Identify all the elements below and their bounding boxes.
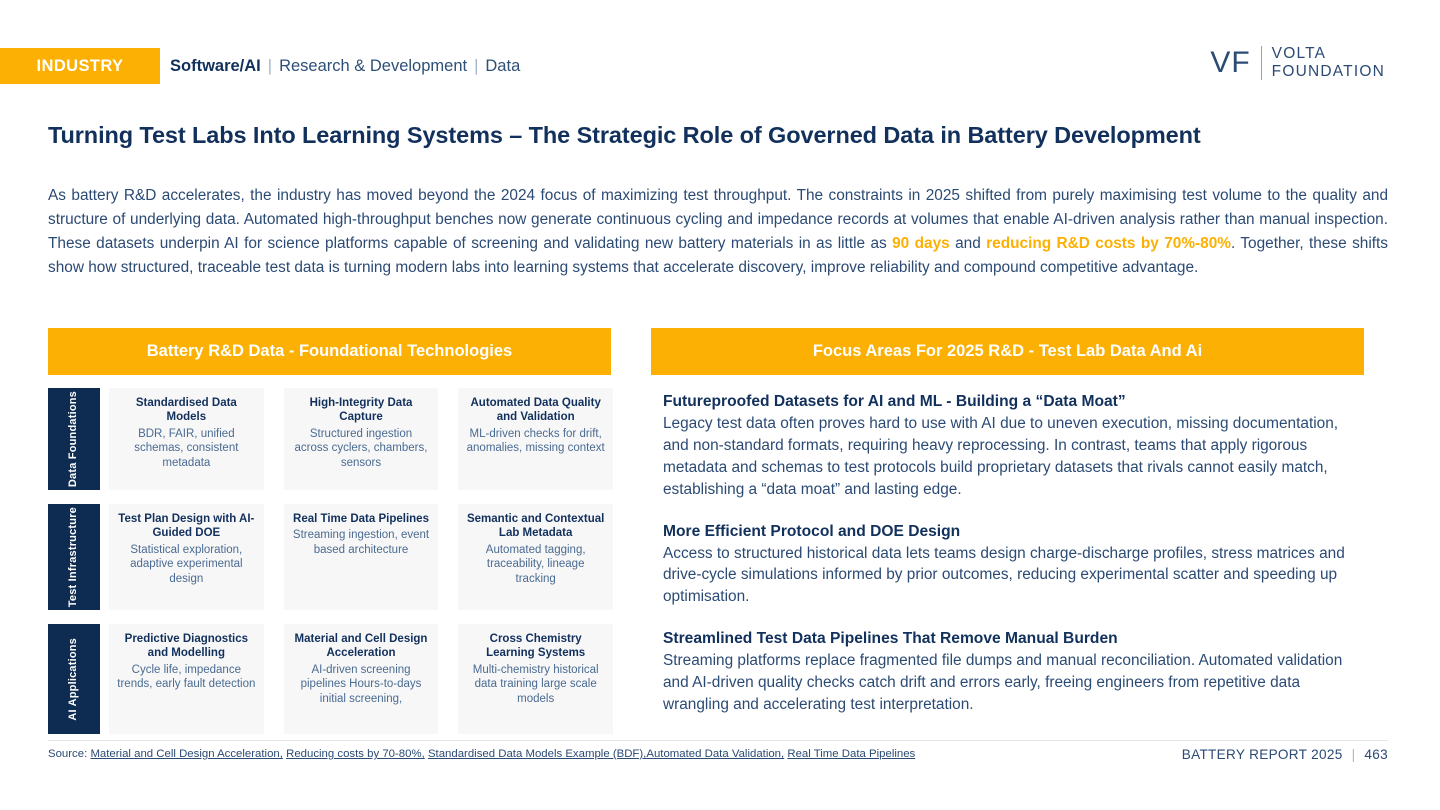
focus-block-title: More Efficient Protocol and DOE Design [663, 523, 1363, 541]
logo-wordmark-line2: FOUNDATION [1272, 63, 1385, 81]
breadcrumb-item-third: Data [485, 57, 520, 76]
footer-divider [48, 740, 1388, 741]
source-label: Source: [48, 748, 87, 760]
logo-wordmark: VOLTA FOUNDATION [1272, 45, 1385, 81]
matrix-card-title: Cross Chemistry Learning Systems [466, 632, 605, 661]
logo-monogram: VF [1210, 48, 1250, 78]
row-label-data-foundations: Data Foundations [48, 388, 100, 490]
matrix-card[interactable]: Semantic and Contextual Lab Metadata Aut… [458, 504, 613, 610]
row-label-text: Data Foundations [67, 391, 81, 487]
focus-block: Futureproofed Datasets for AI and ML - B… [663, 393, 1363, 501]
matrix-card-description: Multi-chemistry historical data training… [466, 663, 605, 707]
focus-block-title: Streamlined Test Data Pipelines That Rem… [663, 630, 1363, 648]
matrix-card-description: BDR, FAIR, unified schemas, consistent m… [117, 427, 256, 471]
matrix-card-title: Standardised Data Models [117, 396, 256, 425]
matrix-card-title: High-Integrity Data Capture [292, 396, 431, 425]
matrix-row-cards: Predictive Diagnostics and Modelling Cyc… [109, 624, 613, 734]
matrix-card[interactable]: Cross Chemistry Learning Systems Multi-c… [458, 624, 613, 734]
slide-root: INDUSTRY Software/AI | Research & Develo… [0, 0, 1440, 810]
breadcrumb-item-primary: Software/AI [170, 57, 261, 76]
intro-highlight-90-days: 90 days [892, 235, 950, 252]
row-label-test-infrastructure: Test Infrastructure [48, 504, 100, 610]
logo-wordmark-line1: VOLTA [1272, 45, 1385, 63]
breadcrumb: Software/AI | Research & Development | D… [170, 48, 520, 84]
matrix-card-description: Statistical exploration, adaptive experi… [117, 543, 256, 587]
intro-paragraph: As battery R&D accelerates, the industry… [48, 184, 1388, 280]
matrix-card[interactable]: Material and Cell Design Acceleration AI… [284, 624, 439, 734]
matrix-row: AI Applications Predictive Diagnostics a… [48, 624, 613, 734]
row-label-text: Test Infrastructure [67, 507, 81, 607]
focus-block: More Efficient Protocol and DOE Design A… [663, 523, 1363, 609]
source-link-reducing-costs[interactable]: Reducing costs by 70-80%, [286, 748, 425, 760]
matrix-card[interactable]: Automated Data Quality and Validation ML… [458, 388, 613, 490]
matrix-card-description: Structured ingestion across cyclers, cha… [292, 427, 431, 471]
right-panel-header: Focus Areas For 2025 R&D - Test Lab Data… [651, 328, 1364, 375]
page-title: Turning Test Labs Into Learning Systems … [48, 122, 1388, 149]
matrix-card-description: Streaming ingestion, event based archite… [292, 528, 431, 557]
matrix-card-description: Automated tagging, traceability, lineage… [466, 543, 605, 587]
matrix-card[interactable]: High-Integrity Data Capture Structured i… [284, 388, 439, 490]
matrix-card-description: AI-driven screening pipelines Hours-to-d… [292, 663, 431, 707]
left-panel-header: Battery R&D Data - Foundational Technolo… [48, 328, 611, 375]
focus-block: Streamlined Test Data Pipelines That Rem… [663, 630, 1363, 716]
matrix-card-description: Cycle life, impedance trends, early faul… [117, 663, 256, 692]
source-link-real-time-data-pipelines[interactable]: Real Time Data Pipelines [787, 748, 915, 760]
breadcrumb-separator-1: | [268, 57, 272, 76]
matrix-card-title: Semantic and Contextual Lab Metadata [466, 512, 605, 541]
focus-block-body: Legacy test data often proves hard to us… [663, 413, 1363, 501]
row-label-ai-applications: AI Applications [48, 624, 100, 734]
matrix-card[interactable]: Standardised Data Models BDR, FAIR, unif… [109, 388, 264, 490]
breadcrumb-item-second: Research & Development [279, 57, 467, 76]
industry-badge: INDUSTRY [0, 48, 160, 84]
focus-areas-list: Futureproofed Datasets for AI and ML - B… [663, 393, 1363, 716]
matrix-card-title: Material and Cell Design Acceleration [292, 632, 431, 661]
matrix-card[interactable]: Predictive Diagnostics and Modelling Cyc… [109, 624, 264, 734]
focus-block-body: Access to structured historical data let… [663, 543, 1363, 609]
focus-block-body: Streaming platforms replace fragmented f… [663, 650, 1363, 716]
foundational-technologies-matrix: Data Foundations Standardised Data Model… [48, 388, 613, 748]
source-link-material-cell-design[interactable]: Material and Cell Design Acceleration, [90, 748, 282, 760]
matrix-card-description: ML-driven checks for drift, anomalies, m… [466, 427, 605, 456]
matrix-row-cards: Test Plan Design with AI-Guided DOE Stat… [109, 504, 613, 610]
source-link-automated-data-validation[interactable]: Automated Data Validation, [646, 748, 784, 760]
row-label-text: AI Applications [67, 638, 81, 721]
footer-page-number: 463 [1364, 747, 1388, 762]
matrix-row: Test Infrastructure Test Plan Design wit… [48, 504, 613, 610]
footer-separator: | [1352, 747, 1356, 762]
matrix-card-title: Automated Data Quality and Validation [466, 396, 605, 425]
intro-text-part2: and [950, 235, 986, 252]
focus-block-title: Futureproofed Datasets for AI and ML - B… [663, 393, 1363, 411]
source-citation: Source: Material and Cell Design Acceler… [48, 748, 915, 760]
breadcrumb-separator-2: | [474, 57, 478, 76]
matrix-card-title: Predictive Diagnostics and Modelling [117, 632, 256, 661]
footer-report-info: BATTERY REPORT 2025 | 463 [1182, 747, 1388, 762]
matrix-card[interactable]: Test Plan Design with AI-Guided DOE Stat… [109, 504, 264, 610]
matrix-card-title: Real Time Data Pipelines [292, 512, 431, 526]
footer-report-name: BATTERY REPORT 2025 [1182, 747, 1343, 762]
matrix-card-title: Test Plan Design with AI-Guided DOE [117, 512, 256, 541]
source-link-standardised-data-models[interactable]: Standardised Data Models Example (BDF), [428, 748, 646, 760]
intro-highlight-cost-reduction: reducing R&D costs by 70%-80% [986, 235, 1231, 252]
matrix-card[interactable]: Real Time Data Pipelines Streaming inges… [284, 504, 439, 610]
matrix-row-cards: Standardised Data Models BDR, FAIR, unif… [109, 388, 613, 490]
matrix-row: Data Foundations Standardised Data Model… [48, 388, 613, 490]
volta-foundation-logo: VF VOLTA FOUNDATION [1210, 45, 1385, 81]
logo-divider [1261, 46, 1262, 80]
